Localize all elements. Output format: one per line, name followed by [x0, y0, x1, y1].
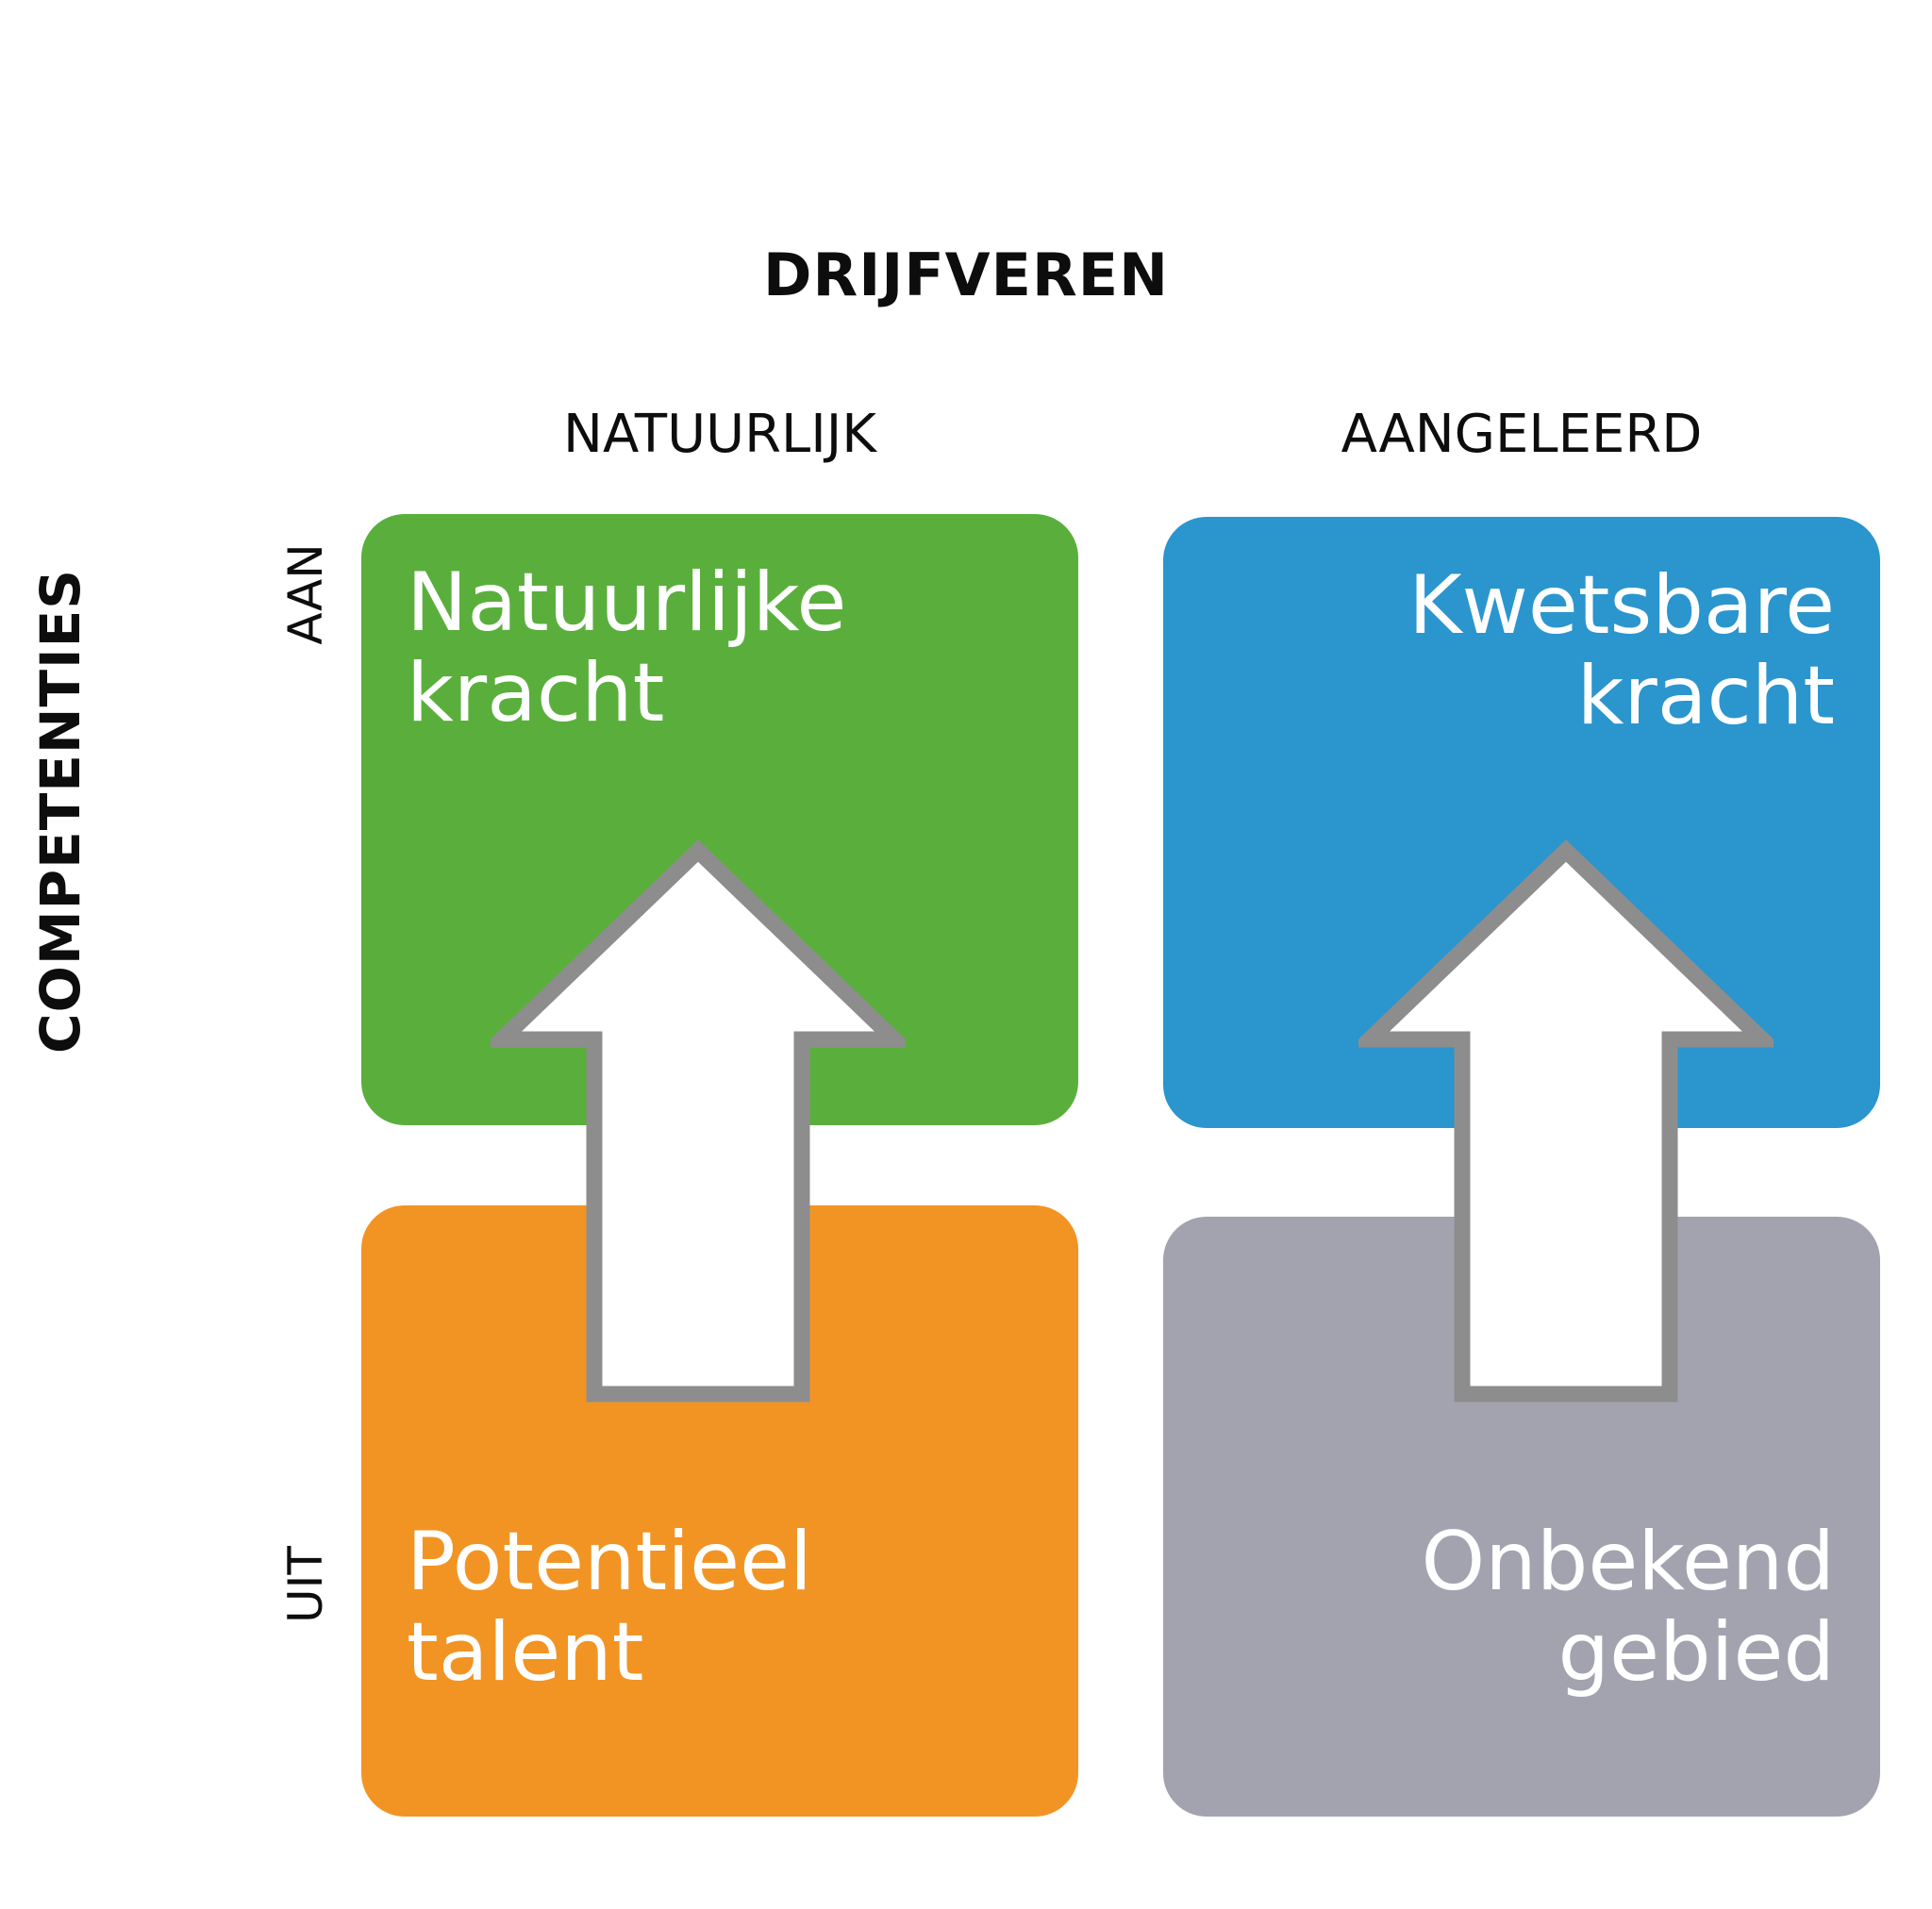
top-axis-title: DRIJFVEREN [0, 241, 1932, 309]
quadrant-kwetsbare-kracht[interactable]: Kwetsbare kracht [1163, 517, 1880, 1128]
quadrant-potentieel-talent[interactable]: Potentieel talent [361, 1205, 1078, 1817]
diagram-canvas: DRIJFVEREN NATUURLIJK AANGELEERD COMPETE… [0, 0, 1932, 1909]
quadrant-potentieel-talent-line2: talent [407, 1607, 1033, 1698]
quadrant-potentieel-talent-line1: Potentieel [407, 1517, 1033, 1607]
quadrant-natuurlijke-kracht[interactable]: Natuurlijke kracht [361, 514, 1078, 1125]
quadrant-natuurlijke-kracht-line1: Natuurlijke [407, 557, 1033, 648]
row-label-aan: AAN [278, 453, 333, 736]
column-header-natuurlijk: NATUURLIJK [361, 404, 1078, 465]
left-axis-title: COMPETENTIES [28, 566, 92, 1056]
quadrant-onbekend-gebied-line1: Onbekend [1208, 1517, 1835, 1607]
column-header-aangeleerd: AANGELEERD [1163, 404, 1880, 465]
quadrant-kwetsbare-kracht-line2: kracht [1208, 651, 1835, 741]
row-label-uit: UIT [278, 1443, 333, 1726]
quadrant-kwetsbare-kracht-line1: Kwetsbare [1208, 560, 1835, 651]
quadrant-onbekend-gebied-line2: gebied [1208, 1607, 1835, 1698]
quadrant-natuurlijke-kracht-line2: kracht [407, 648, 1033, 739]
quadrant-onbekend-gebied[interactable]: Onbekend gebied [1163, 1217, 1880, 1817]
